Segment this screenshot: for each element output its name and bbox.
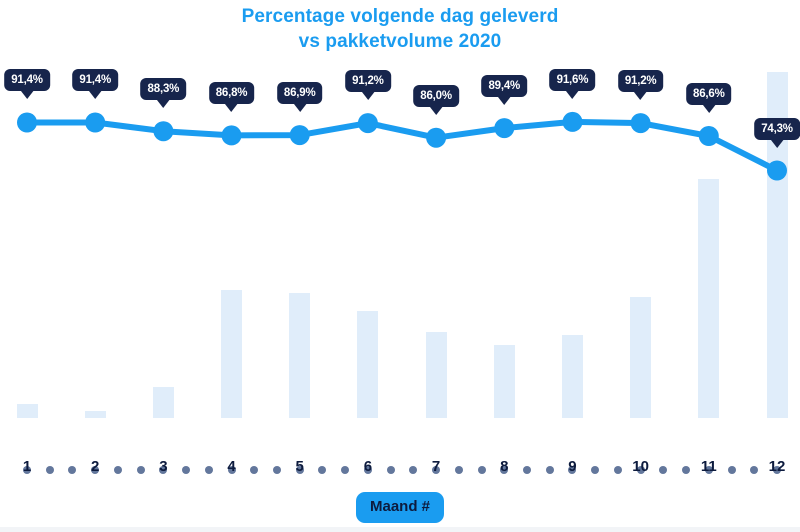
value-label-month-1: 91,4%	[4, 69, 50, 100]
x-tick-2: 2	[91, 458, 99, 475]
x-tick-5: 5	[296, 458, 304, 475]
x-tick-11: 11	[701, 458, 717, 475]
value-label-text: 86,8%	[209, 82, 255, 104]
value-label-month-10: 91,2%	[618, 70, 664, 101]
x-axis: 123456789101112	[0, 450, 800, 484]
x-tick-8: 8	[500, 458, 508, 475]
chart-root: Percentage volgende dag geleverd vs pakk…	[0, 0, 800, 532]
value-label-month-5: 86,9%	[277, 82, 323, 113]
value-label-tail-icon	[88, 90, 102, 99]
value-label-text: 91,2%	[618, 70, 664, 92]
x-tick-12: 12	[769, 458, 786, 475]
value-label-month-9: 91,6%	[550, 69, 596, 100]
x-tick-9: 9	[568, 458, 576, 475]
value-label-text: 86,9%	[277, 82, 323, 104]
value-label-tail-icon	[702, 104, 716, 113]
value-label-tail-icon	[634, 91, 648, 100]
value-label-text: 88,3%	[141, 78, 187, 100]
value-label-text: 91,6%	[550, 69, 596, 91]
x-tick-7: 7	[432, 458, 440, 475]
x-tick-6: 6	[364, 458, 372, 475]
value-label-text: 91,2%	[345, 70, 391, 92]
value-label-month-6: 91,2%	[345, 70, 391, 101]
value-label-month-3: 88,3%	[141, 78, 187, 109]
value-labels-layer: 91,4%91,4%88,3%86,8%86,9%91,2%86,0%89,4%…	[0, 0, 800, 470]
value-label-text: 91,4%	[4, 69, 50, 91]
value-label-month-7: 86,0%	[413, 85, 459, 116]
value-label-text: 89,4%	[481, 75, 527, 97]
value-label-month-11: 86,6%	[686, 83, 732, 114]
value-label-month-8: 89,4%	[481, 75, 527, 106]
x-axis-title-badge: Maand #	[356, 492, 444, 523]
value-label-text: 91,4%	[72, 69, 118, 91]
value-label-month-12: 74,3%	[754, 118, 800, 149]
value-label-month-4: 86,8%	[209, 82, 255, 113]
x-tick-4: 4	[227, 458, 235, 475]
value-label-tail-icon	[361, 91, 375, 100]
value-label-text: 86,0%	[413, 85, 459, 107]
value-label-tail-icon	[20, 90, 34, 99]
plot-area: 91,4%91,4%88,3%86,8%86,9%91,2%86,0%89,4%…	[0, 0, 800, 470]
x-tick-3: 3	[159, 458, 167, 475]
value-label-text: 74,3%	[754, 118, 800, 140]
value-label-tail-icon	[225, 103, 239, 112]
value-label-tail-icon	[293, 103, 307, 112]
value-label-tail-icon	[497, 96, 511, 105]
bottom-strip	[0, 527, 800, 532]
x-axis-title-wrap: Maand #	[0, 492, 800, 523]
value-label-text: 86,6%	[686, 83, 732, 105]
value-label-tail-icon	[429, 106, 443, 115]
value-label-tail-icon	[565, 90, 579, 99]
value-label-month-2: 91,4%	[72, 69, 118, 100]
value-label-tail-icon	[770, 139, 784, 148]
x-tick-10: 10	[632, 458, 649, 475]
value-label-tail-icon	[156, 99, 170, 108]
x-tick-1: 1	[23, 458, 31, 475]
